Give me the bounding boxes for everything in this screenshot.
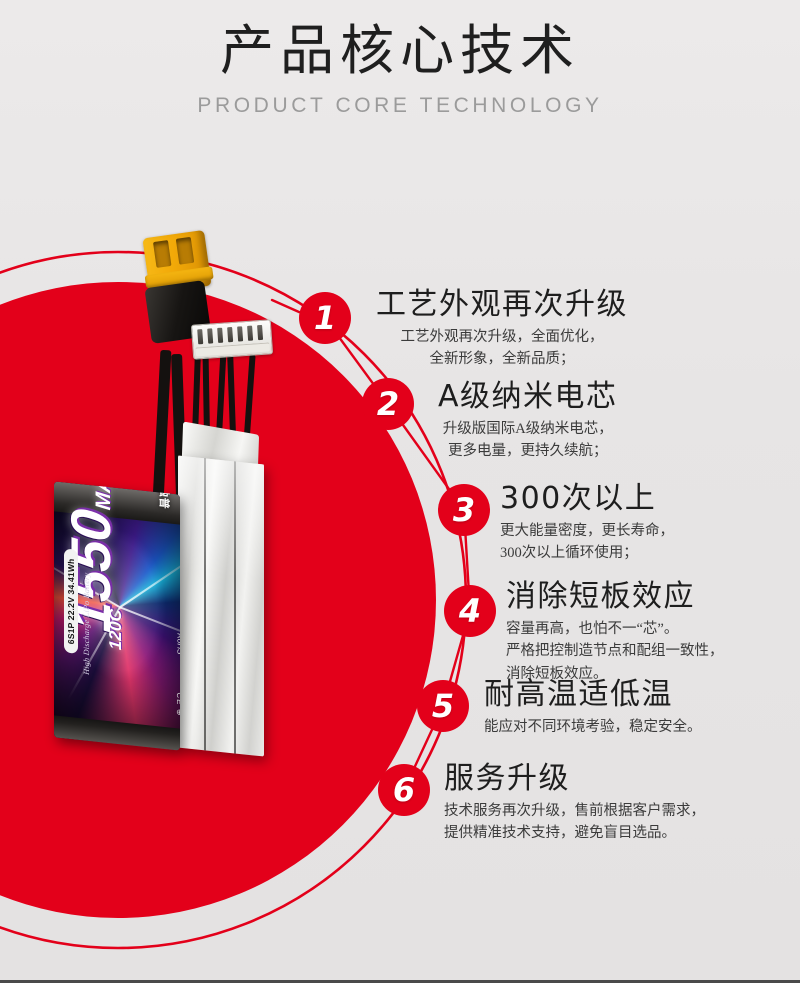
feature-badge-2-number: 2 (377, 385, 399, 423)
feature-1-desc-line-2: 全新形象，全新品质； (376, 348, 628, 370)
feature-1-heading: 工艺外观再次升级 (376, 288, 628, 321)
feature-badge-4[interactable]: 4 (444, 585, 496, 637)
page-subtitle: PRODUCT CORE TECHNOLOGY (0, 94, 800, 118)
feature-badge-2[interactable]: 2 (362, 378, 414, 430)
feature-2-desc-line-1: 升级版国际A级纳米电芯， (438, 418, 618, 440)
balance-connector-icon (191, 319, 273, 359)
feature-badge-6-number: 6 (393, 771, 415, 809)
feature-5-heading: 耐高温适低温 (484, 678, 702, 711)
feature-1-desc-line-1: 工艺外观再次升级，全面优化， (376, 326, 628, 348)
feature-badge-3[interactable]: 3 (438, 484, 490, 536)
feature-3-desc-line-2: 300次以上循环使用； (500, 542, 674, 564)
feature-1-description: 工艺外观再次升级，全面优化， 全新形象，全新品质； (376, 326, 628, 371)
battery-pack-side (178, 455, 264, 756)
feature-4-heading: 消除短板效应 (506, 580, 724, 613)
feature-5-description: 能应对不同环境考验，稳定安全。 (484, 716, 702, 738)
feature-badge-1-number: 1 (314, 299, 336, 337)
feature-item-6: 服务升级 技术服务再次升级，售前根据客户需求， 提供精准技术支持，避免盲目选品。 (444, 762, 705, 845)
feature-6-desc-line-1: 技术服务再次升级，售前根据客户需求， (444, 800, 705, 822)
feature-badge-3-number: 3 (453, 491, 475, 529)
feature-4-desc-line-1: 容量再高，也怕不一“芯”。 (506, 618, 724, 640)
feature-item-1: 工艺外观再次升级 工艺外观再次升级，全面优化， 全新形象，全新品质； (376, 288, 628, 371)
feature-2-desc-line-2: 更多电量，更持久续航； (438, 440, 618, 462)
feature-item-5: 耐高温适低温 能应对不同环境考验，稳定安全。 (484, 678, 702, 738)
battery-tagline: High Discharge LiPo Battery (82, 572, 91, 675)
battery-capacity-unit: MAH (92, 481, 115, 511)
feature-2-description: 升级版国际A级纳米电芯， 更多电量，更持久续航； (438, 418, 618, 463)
feature-6-description: 技术服务再次升级，售前根据客户需求， 提供精准技术支持，避免盲目选品。 (444, 800, 705, 845)
feature-4-desc-line-2: 严格把控制造节点和配组一致性， (506, 640, 724, 662)
feature-badge-1[interactable]: 1 (299, 292, 351, 344)
feature-badge-5[interactable]: 5 (417, 680, 469, 732)
feature-item-2: A级纳米电芯 升级版国际A级纳米电芯， 更多电量，更持久续航； (438, 380, 618, 463)
rohs-mark: RoHS (175, 633, 180, 655)
feature-item-4: 消除短板效应 容量再高，也怕不一“芯”。 严格把控制造节点和配组一致性， 消除短… (506, 580, 724, 685)
product-image-lipo-battery: DUPU独普 1550MAH 120C 6S1P 22.2V 34.41Wh H… (40, 222, 310, 782)
feature-5-desc-line-1: 能应对不同环境考验，稳定安全。 (484, 716, 702, 738)
feature-3-heading: 300次以上 (500, 482, 674, 515)
infographic-canvas: 产品核心技术 PRODUCT CORE TECHNOLOGY (0, 0, 800, 983)
feature-item-3: 300次以上 更大能量密度，更长寿命， 300次以上循环使用； (500, 482, 674, 565)
feature-badge-5-number: 5 (432, 687, 454, 725)
feature-3-desc-line-1: 更大能量密度，更长寿命， (500, 520, 674, 542)
page-title: 产品核心技术 (0, 22, 800, 80)
battery-spec-badge: 6S1P 22.2V 34.41Wh (64, 549, 78, 654)
feature-6-desc-line-2: 提供精准技术支持，避免盲目选品。 (444, 822, 705, 844)
certification-marks: CE ⊕ (175, 692, 180, 717)
feature-6-heading: 服务升级 (444, 762, 705, 795)
page-header: 产品核心技术 PRODUCT CORE TECHNOLOGY (0, 22, 800, 118)
feature-badge-4-number: 4 (459, 592, 481, 630)
feature-4-description: 容量再高，也怕不一“芯”。 严格把控制造节点和配组一致性， 消除短板效应。 (506, 618, 724, 685)
feature-badge-6[interactable]: 6 (378, 764, 430, 816)
feature-2-heading: A级纳米电芯 (438, 380, 618, 413)
battery-label-face: DUPU独普 1550MAH 120C 6S1P 22.2V 34.41Wh H… (54, 481, 180, 750)
feature-3-description: 更大能量密度，更长寿命， 300次以上循环使用； (500, 520, 674, 565)
battery-discharge-rate: 120C (106, 608, 126, 651)
